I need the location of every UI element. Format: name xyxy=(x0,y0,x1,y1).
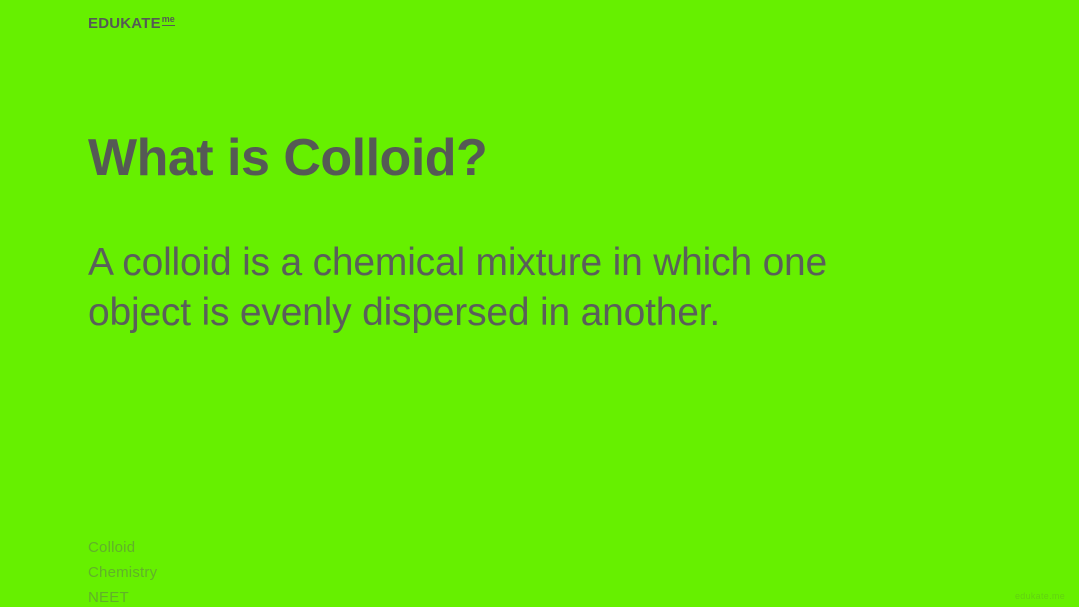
slide-body-text: A colloid is a chemical mixture in which… xyxy=(88,238,918,338)
corner-watermark: edukate.me xyxy=(1015,592,1065,601)
brand-wordmark: EDUKATE xyxy=(88,16,161,31)
tag-item[interactable]: Colloid xyxy=(88,540,157,555)
tag-item[interactable]: NEET xyxy=(88,590,157,605)
page-title: What is Colloid? xyxy=(88,130,988,186)
brand-logo[interactable]: EDUKATE me xyxy=(88,16,175,31)
brand-superscript: me xyxy=(162,15,175,26)
slide-canvas: EDUKATE me What is Colloid? A colloid is… xyxy=(0,0,1079,607)
tag-item[interactable]: Chemistry xyxy=(88,565,157,580)
slide-content: What is Colloid? A colloid is a chemical… xyxy=(88,130,988,338)
tag-list: Colloid Chemistry NEET xyxy=(88,540,157,607)
